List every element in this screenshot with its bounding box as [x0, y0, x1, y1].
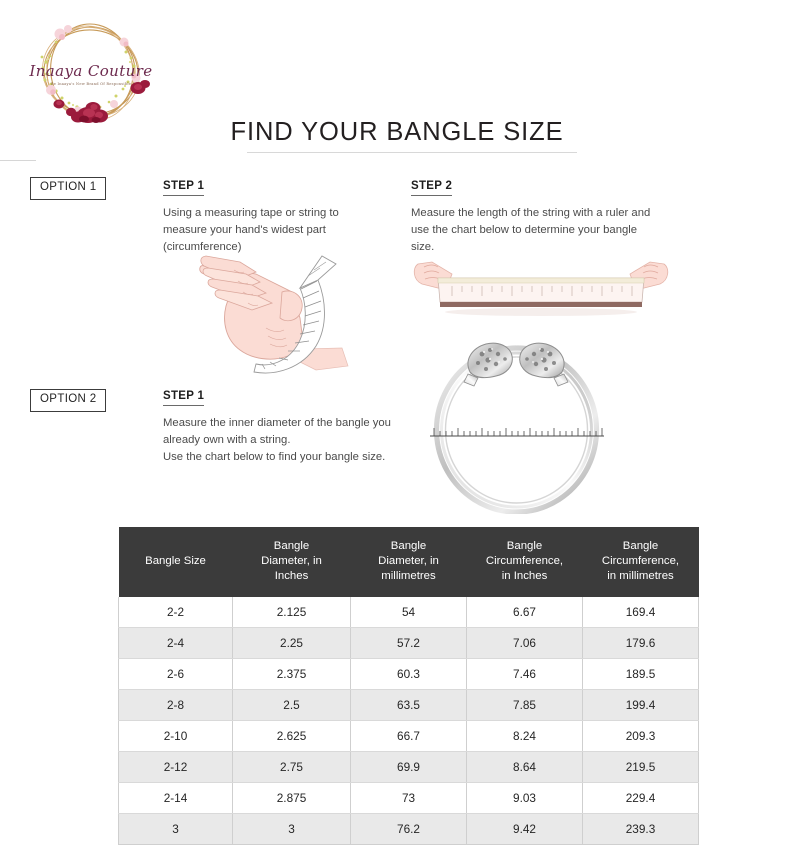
bangle-size-guide-page: Inaaya Couture Be Inaaya's New Brand Of … — [0, 0, 794, 794]
col-header-bangle-size: Bangle Size — [119, 527, 233, 597]
cell-value: 9.42 — [467, 814, 583, 845]
cell-bangle-size: 3 — [119, 814, 233, 845]
col-header-circumference-mm: Bangle Circumference, in millimetres — [583, 527, 699, 597]
bangle-right-terminal — [520, 343, 568, 386]
cell-value: 2.25 — [233, 628, 351, 659]
step-2-body: Measure the length of the string with a … — [411, 205, 663, 256]
cell-value: 7.85 — [467, 690, 583, 721]
table-row: 2-82.563.57.85199.4 — [119, 690, 699, 721]
brand-logo: Inaaya Couture Be Inaaya's New Brand Of … — [26, 12, 156, 132]
cell-value: 66.7 — [351, 721, 467, 752]
table-row: 2-62.37560.37.46189.5 — [119, 659, 699, 690]
cell-value: 169.4 — [583, 597, 699, 628]
bangle-size-table-wrap: Bangle Size Bangle Diameter, in Inches B… — [118, 527, 698, 845]
cell-value: 229.4 — [583, 783, 699, 814]
col-header-line: Circumference, — [602, 555, 679, 567]
page-title: FIND YOUR BANGLE SIZE — [0, 118, 794, 147]
cell-value: 2.125 — [233, 597, 351, 628]
step-3-body: Measure the inner diameter of the bangle… — [163, 415, 408, 466]
cell-value: 69.9 — [351, 752, 467, 783]
cell-value: 179.6 — [583, 628, 699, 659]
option-1-badge: OPTION 1 — [30, 177, 106, 200]
step-1-title: STEP 1 — [163, 180, 204, 196]
option-2-badge: OPTION 2 — [30, 389, 106, 412]
cell-bangle-size: 2-12 — [119, 752, 233, 783]
table-header: Bangle Size Bangle Diameter, in Inches B… — [119, 527, 699, 597]
cell-value: 7.06 — [467, 628, 583, 659]
cell-value: 7.46 — [467, 659, 583, 690]
table-row: 2-122.7569.98.64219.5 — [119, 752, 699, 783]
page-title-wrap: FIND YOUR BANGLE SIZE — [0, 118, 794, 147]
col-header-line: Bangle — [391, 540, 426, 552]
cell-value: 199.4 — [583, 690, 699, 721]
step-2-block: STEP 2 Measure the length of the string … — [411, 176, 663, 256]
cell-bangle-size: 2-10 — [119, 721, 233, 752]
cell-value: 2.875 — [233, 783, 351, 814]
title-divider — [247, 152, 577, 153]
cell-bangle-size: 2-6 — [119, 659, 233, 690]
table-row: 3376.29.42239.3 — [119, 814, 699, 845]
table-row: 2-22.125546.67169.4 — [119, 597, 699, 628]
cell-value: 3 — [233, 814, 351, 845]
bangle-left-terminal — [464, 343, 512, 386]
col-header-line: Bangle — [274, 540, 309, 552]
cell-value: 54 — [351, 597, 467, 628]
step-3-title: STEP 1 — [163, 390, 204, 406]
hand-with-measuring-tape-illustration — [196, 248, 356, 380]
cell-bangle-size: 2-8 — [119, 690, 233, 721]
cell-value: 60.3 — [351, 659, 467, 690]
step-2-title: STEP 2 — [411, 180, 452, 196]
cell-bangle-size: 2-4 — [119, 628, 233, 659]
cell-value: 73 — [351, 783, 467, 814]
cell-value: 209.3 — [583, 721, 699, 752]
floral-wreath-logo-icon: Inaaya Couture Be Inaaya's New Brand Of … — [26, 12, 156, 132]
cell-value: 239.3 — [583, 814, 699, 845]
col-header-line: Circumference, — [486, 555, 563, 567]
col-header-line: Bangle Size — [145, 555, 206, 567]
cell-value: 8.24 — [467, 721, 583, 752]
bangle-size-table: Bangle Size Bangle Diameter, in Inches B… — [118, 527, 699, 845]
cell-value: 189.5 — [583, 659, 699, 690]
cell-bangle-size: 2-2 — [119, 597, 233, 628]
cell-bangle-size: 2-14 — [119, 783, 233, 814]
cell-value: 2.75 — [233, 752, 351, 783]
cell-value: 6.67 — [467, 597, 583, 628]
cell-value: 2.5 — [233, 690, 351, 721]
col-header-circumference-inches: Bangle Circumference, in Inches — [467, 527, 583, 597]
col-header-line: Bangle — [623, 540, 658, 552]
table-row: 2-42.2557.27.06179.6 — [119, 628, 699, 659]
table-header-row: Bangle Size Bangle Diameter, in Inches B… — [119, 527, 699, 597]
cell-value: 8.64 — [467, 752, 583, 783]
col-header-line: in millimetres — [607, 570, 673, 582]
table-row: 2-142.875739.03229.4 — [119, 783, 699, 814]
cell-value: 57.2 — [351, 628, 467, 659]
cell-value: 2.375 — [233, 659, 351, 690]
col-header-line: Diameter, in — [261, 555, 322, 567]
cell-value: 9.03 — [467, 783, 583, 814]
table-body: 2-22.125546.67169.42-42.2557.27.06179.62… — [119, 597, 699, 845]
col-header-line: Inches — [275, 570, 309, 582]
col-header-line: in Inches — [502, 570, 548, 582]
col-header-line: millimetres — [381, 570, 435, 582]
brand-name-text: Inaaya Couture — [28, 62, 152, 80]
step-1-block: STEP 1 Using a measuring tape or string … — [163, 176, 363, 256]
silver-bangle-with-ruler-illustration — [420, 332, 612, 514]
hands-holding-ruler-illustration — [412, 250, 670, 324]
cell-value: 219.5 — [583, 752, 699, 783]
col-header-diameter-inches: Bangle Diameter, in Inches — [233, 527, 351, 597]
title-divider-left-tick — [0, 160, 36, 161]
step-3-block: STEP 1 Measure the inner diameter of the… — [163, 386, 408, 466]
cell-value: 76.2 — [351, 814, 467, 845]
table-row: 2-102.62566.78.24209.3 — [119, 721, 699, 752]
col-header-diameter-mm: Bangle Diameter, in millimetres — [351, 527, 467, 597]
col-header-line: Bangle — [507, 540, 542, 552]
cell-value: 63.5 — [351, 690, 467, 721]
cell-value: 2.625 — [233, 721, 351, 752]
brand-tagline-text: Be Inaaya's New Brand Of Responsible — [51, 82, 131, 86]
col-header-line: Diameter, in — [378, 555, 439, 567]
